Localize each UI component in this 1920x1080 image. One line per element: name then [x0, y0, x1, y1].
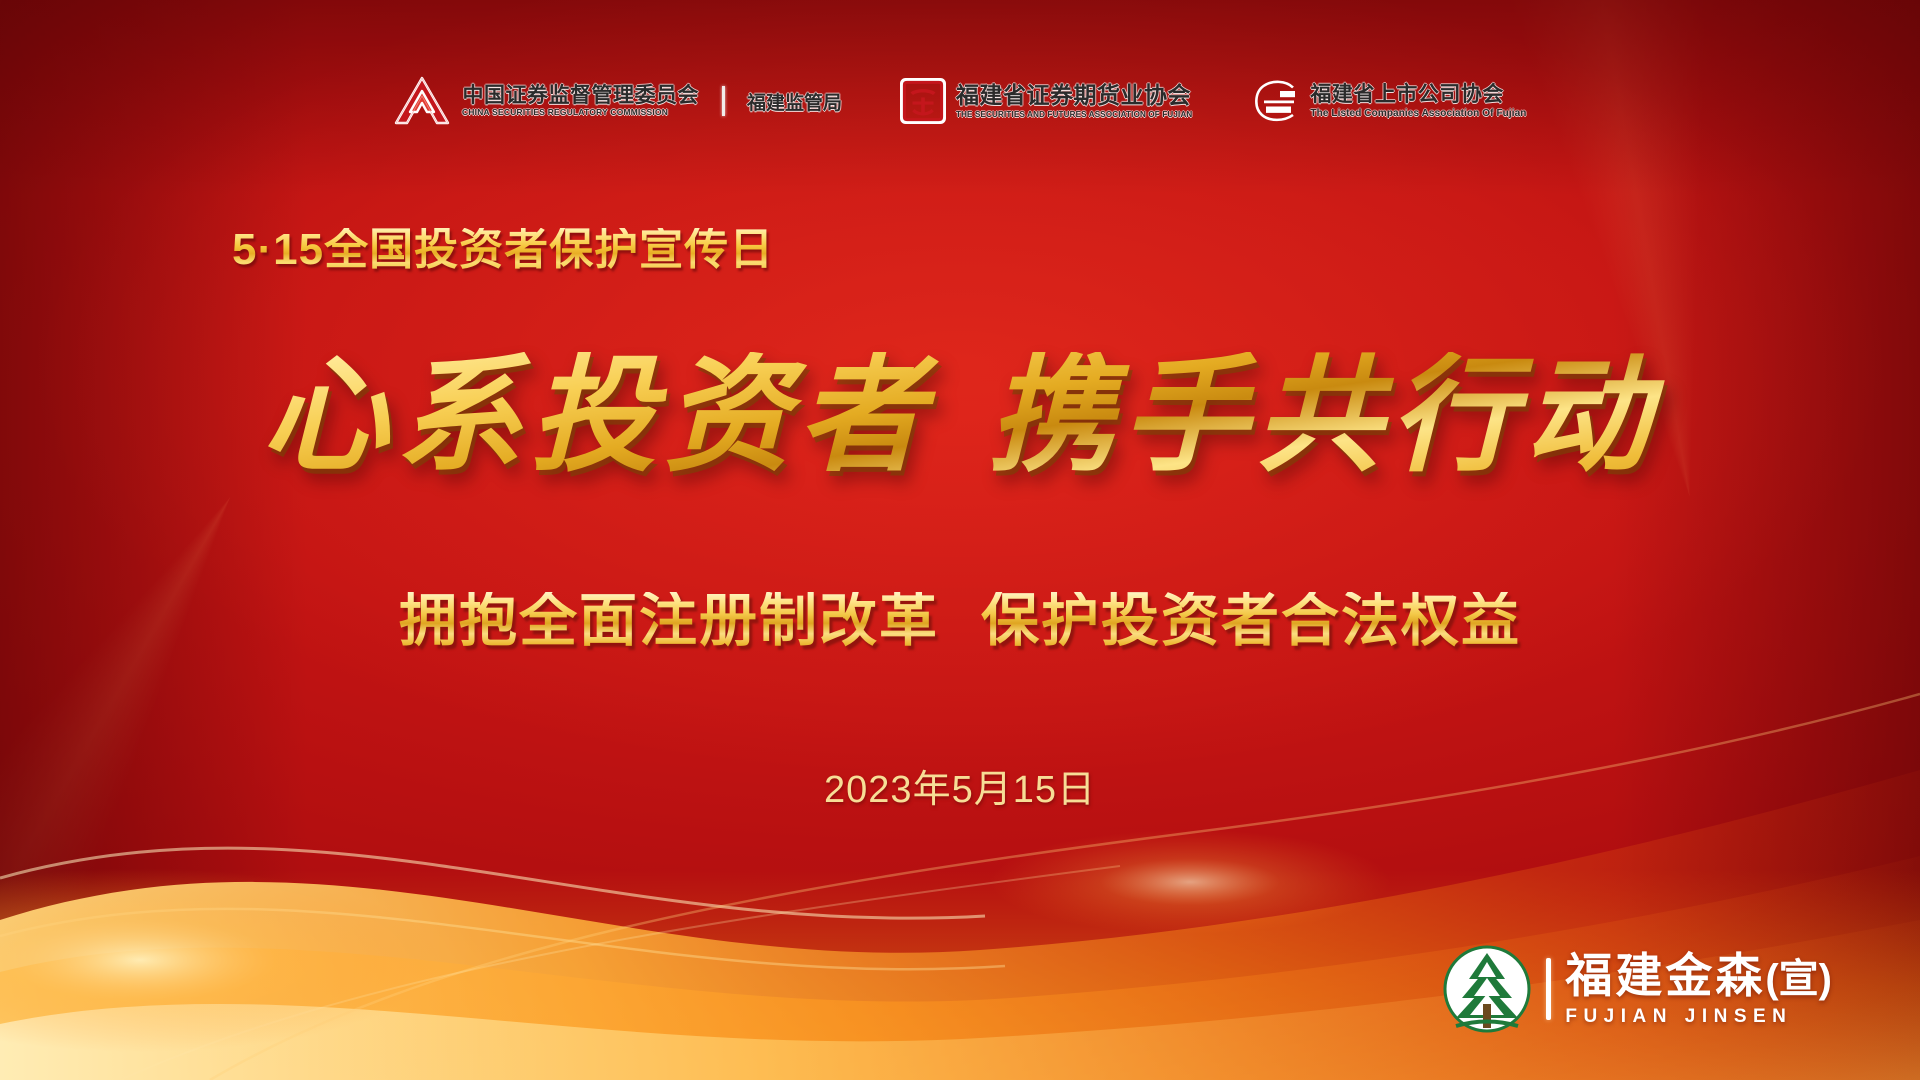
csrc-name-en: CHINA SECURITIES REGULATORY COMMISSION — [462, 109, 703, 117]
csrc-name-cn: 中国证券监督管理委员会 — [462, 85, 699, 106]
headline-part-1: 心系投资者 — [262, 341, 932, 489]
banner-poster: 中国证券监督管理委员会 CHINA SECURITIES REGULATORY … — [0, 0, 1920, 1080]
csrc-branch-name: 福建监管局 — [747, 88, 842, 115]
sfaf-text-block: 福建省证券期货业协会 THE SECURITIES AND FUTURES AS… — [956, 84, 1192, 119]
subtitle-part-1: 拥抱全面注册制改革 — [399, 588, 939, 653]
listed-companies-association-ring-icon — [1250, 78, 1300, 124]
main-headline: 心系投资者携手共行动 — [0, 352, 1920, 478]
sponsor-name-cn: 福建金森 — [1565, 952, 1765, 999]
sponsor-name-en: FUJIAN JINSEN — [1565, 1007, 1832, 1026]
csrc-text-block: 中国证券监督管理委员会 CHINA SECURITIES REGULATORY … — [462, 85, 699, 117]
event-date: 2023年5月15日 — [0, 771, 1920, 809]
logo-csrc: 中国证券监督管理委员会 CHINA SECURITIES REGULATORY … — [393, 74, 842, 128]
sponsor-lockup: 福建金森(宣) FUJIAN JINSEN — [1442, 944, 1832, 1034]
subtitle-part-2: 保护投资者合法权益 — [981, 588, 1521, 653]
sfaf-name-cn: 福建省证券期货业协会 — [956, 84, 1192, 107]
sfaf-name-en: THE SECURITIES AND FUTURES ASSOCIATION O… — [956, 111, 1192, 119]
organizer-logo-bar: 中国证券监督管理委员会 CHINA SECURITIES REGULATORY … — [0, 74, 1920, 128]
csrc-triangle-emblem-icon — [393, 74, 451, 128]
sponsor-suffix-cn: (宣) — [1765, 959, 1832, 999]
lcaf-name-cn: 福建省上市公司协会 — [1310, 84, 1526, 105]
lcaf-text-block: 福建省上市公司协会 The Listed Companies Associati… — [1310, 84, 1526, 119]
lcaf-name-en: The Listed Companies Association Of Fuji… — [1310, 109, 1526, 119]
pine-tree-logo-icon — [1442, 944, 1532, 1034]
sponsor-divider — [1546, 958, 1551, 1020]
sponsor-text-block: 福建金森(宣) FUJIAN JINSEN — [1565, 952, 1832, 1026]
campaign-eyebrow: 5·15全国投资者保护宣传日 — [232, 228, 774, 272]
csrc-divider — [722, 86, 725, 116]
headline-part-2: 携手共行动 — [988, 341, 1658, 489]
sponsor-name-cn-row: 福建金森(宣) — [1565, 952, 1832, 999]
fujian-securities-association-seal-icon — [900, 78, 946, 124]
logo-lcaf: 福建省上市公司协会 The Listed Companies Associati… — [1250, 78, 1526, 124]
subtitle-slogan: 拥抱全面注册制改革保护投资者合法权益 — [0, 592, 1920, 650]
logo-sfaf: 福建省证券期货业协会 THE SECURITIES AND FUTURES AS… — [900, 78, 1192, 124]
